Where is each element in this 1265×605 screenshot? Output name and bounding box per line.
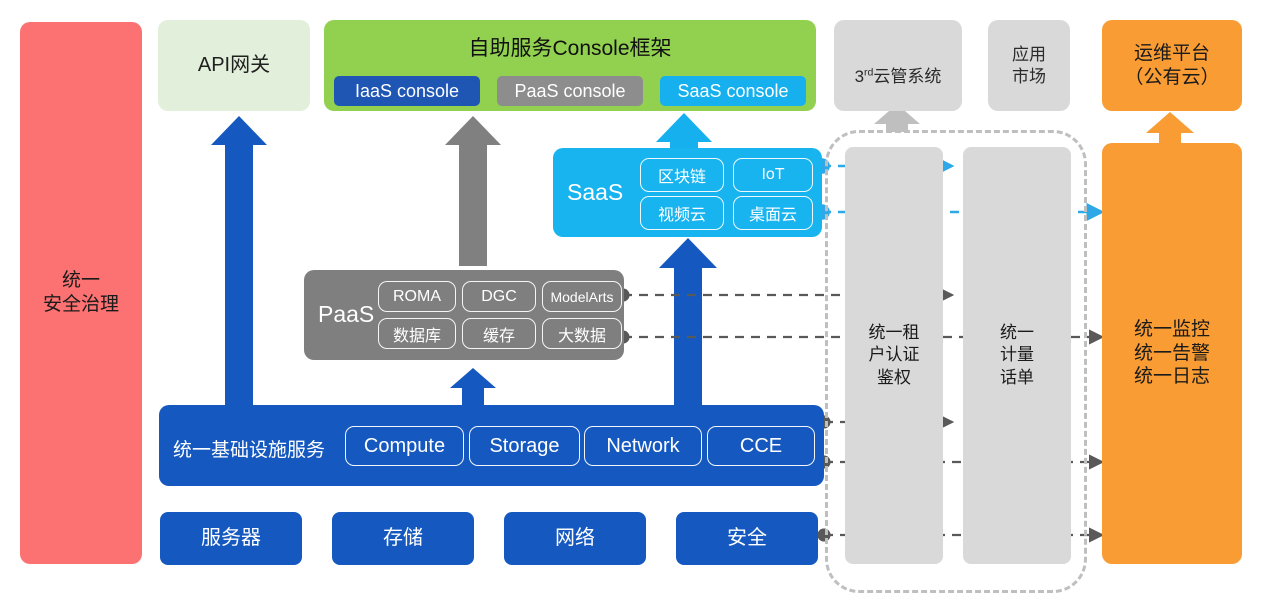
infra-item-cce[interactable]: CCE	[707, 426, 815, 466]
unified-infrastructure-services[interactable]: 统一基础设施服务 Compute Storage Network CCE	[159, 405, 824, 486]
arrow-saas-to-console	[656, 113, 712, 148]
unified-tenant-auth-column[interactable]: 统一租 户认证 鉴权	[845, 147, 943, 564]
ops-platform-label: 运维平台 （公有云）	[1124, 42, 1219, 90]
arrow-into-ops-platform	[1146, 112, 1194, 143]
tenant-auth-label: 统一租 户认证 鉴权	[869, 322, 920, 388]
base-item-server[interactable]: 服务器	[160, 512, 302, 565]
console-frame-title: 自助服务Console框架	[324, 32, 816, 62]
saas-block[interactable]: SaaS 区块链 IoT 视频云 桌面云	[553, 148, 822, 237]
infra-item-compute[interactable]: Compute	[345, 426, 464, 466]
infra-item-label: CCE	[740, 435, 782, 458]
base-item-label: 服务器	[201, 526, 261, 551]
app-market-label: 应用 市场	[1012, 44, 1046, 87]
arrow-infra-to-api-gateway	[211, 116, 267, 405]
api-gateway-label: API网关	[198, 53, 270, 78]
saas-item-label: 区块链	[658, 163, 706, 187]
metering-label: 统一 计量 话单	[1000, 322, 1034, 388]
arrow-infra-to-saas	[659, 238, 717, 405]
unified-monitoring-column[interactable]: 统一监控 统一告警 统一日志	[1102, 143, 1242, 564]
base-item-security[interactable]: 安全	[676, 512, 818, 565]
architecture-diagram: 统一 安全治理 API网关 自助服务Console框架 IaaS console…	[0, 0, 1265, 605]
infra-item-label: Compute	[364, 435, 445, 458]
api-gateway-box[interactable]: API网关	[158, 20, 310, 111]
paas-item-dgc[interactable]: DGC	[462, 281, 536, 312]
monitoring-label: 统一监控 统一告警 统一日志	[1134, 318, 1210, 389]
base-item-label: 存储	[383, 526, 423, 551]
infra-item-storage[interactable]: Storage	[469, 426, 580, 466]
paas-item-label: DGC	[481, 288, 517, 306]
base-item-label: 网络	[555, 526, 595, 551]
ops-platform-box[interactable]: 运维平台 （公有云）	[1102, 20, 1242, 111]
infra-item-network[interactable]: Network	[584, 426, 702, 466]
arrow-paas-to-console	[445, 116, 501, 266]
paas-item-bigdata[interactable]: 大数据	[542, 318, 622, 349]
saas-item-label: 桌面云	[749, 201, 797, 225]
self-service-console-frame[interactable]: 自助服务Console框架 IaaS console PaaS console …	[324, 20, 816, 111]
third-party-prefix: 3	[855, 67, 864, 86]
unified-metering-column[interactable]: 统一 计量 话单	[963, 147, 1071, 564]
paas-block-label: PaaS	[318, 301, 374, 328]
third-party-cloud-mgmt-box[interactable]: 3rd云管系统	[834, 20, 962, 111]
paas-item-label: 缓存	[483, 322, 515, 346]
saas-item-desktop-cloud[interactable]: 桌面云	[733, 196, 813, 230]
iaas-console-label: IaaS console	[355, 81, 459, 102]
paas-item-database[interactable]: 数据库	[378, 318, 456, 349]
paas-console-label: PaaS console	[514, 81, 625, 102]
paas-item-modelarts[interactable]: ModelArts	[542, 281, 622, 312]
saas-console-chip[interactable]: SaaS console	[660, 76, 806, 106]
saas-item-iot[interactable]: IoT	[733, 158, 813, 192]
base-item-storage[interactable]: 存储	[332, 512, 474, 565]
unified-security-governance[interactable]: 统一 安全治理	[20, 22, 142, 564]
saas-item-blockchain[interactable]: 区块链	[640, 158, 724, 192]
paas-block[interactable]: PaaS ROMA DGC ModelArts 数据库 缓存 大数据	[304, 270, 624, 360]
paas-item-label: ModelArts	[550, 289, 613, 305]
paas-item-label: 大数据	[558, 322, 606, 346]
infrastructure-label: 统一基础设施服务	[173, 435, 325, 462]
saas-block-label: SaaS	[567, 179, 623, 206]
infra-item-label: Storage	[489, 435, 559, 458]
third-party-label: 3rd云管系统	[855, 44, 942, 87]
paas-item-roma[interactable]: ROMA	[378, 281, 456, 312]
paas-item-label: ROMA	[393, 288, 441, 306]
paas-item-cache[interactable]: 缓存	[462, 318, 536, 349]
saas-console-label: SaaS console	[677, 81, 788, 102]
arrow-infra-to-paas	[450, 368, 496, 405]
base-item-label: 安全	[727, 526, 767, 551]
base-item-network[interactable]: 网络	[504, 512, 646, 565]
saas-item-video-cloud[interactable]: 视频云	[640, 196, 724, 230]
saas-item-label: 视频云	[658, 201, 706, 225]
third-party-suffix: 云管系统	[873, 67, 941, 86]
iaas-console-chip[interactable]: IaaS console	[334, 76, 480, 106]
saas-item-label: IoT	[761, 166, 784, 184]
paas-console-chip[interactable]: PaaS console	[497, 76, 643, 106]
governance-label: 统一 安全治理	[43, 269, 119, 317]
paas-item-label: 数据库	[393, 322, 441, 346]
app-market-box[interactable]: 应用 市场	[988, 20, 1070, 111]
infra-item-label: Network	[606, 435, 679, 458]
